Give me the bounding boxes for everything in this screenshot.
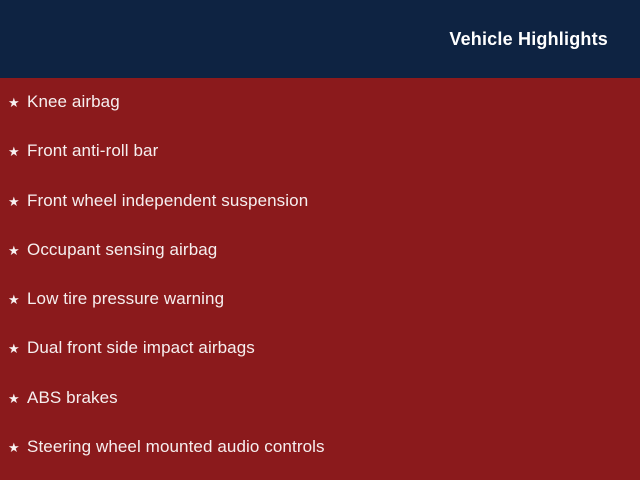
star-icon: ★ bbox=[8, 342, 27, 355]
list-item-label: Dual front side impact airbags bbox=[27, 339, 255, 356]
list-item: ★ Dual front side impact airbags bbox=[8, 339, 640, 388]
header-band: Vehicle Highlights bbox=[0, 0, 640, 78]
list-item: ★ ABS brakes bbox=[8, 389, 640, 438]
highlight-list: ★ Knee airbag ★ Front anti-roll bar ★ Fr… bbox=[8, 93, 640, 480]
list-item-label: Knee airbag bbox=[27, 93, 120, 110]
list-item-label: ABS brakes bbox=[27, 389, 118, 406]
star-icon: ★ bbox=[8, 195, 27, 208]
list-item-label: Front anti-roll bar bbox=[27, 142, 158, 159]
star-icon: ★ bbox=[8, 441, 27, 454]
list-item: ★ Front wheel independent suspension bbox=[8, 192, 640, 241]
star-icon: ★ bbox=[8, 145, 27, 158]
page-title: Vehicle Highlights bbox=[449, 30, 608, 48]
star-icon: ★ bbox=[8, 244, 27, 257]
list-item: ★ Steering wheel mounted audio controls bbox=[8, 438, 640, 480]
star-icon: ★ bbox=[8, 96, 27, 109]
list-item: ★ Knee airbag bbox=[8, 93, 640, 142]
slide-root: Vehicle Highlights ★ Knee airbag ★ Front… bbox=[0, 0, 640, 480]
list-item-label: Steering wheel mounted audio controls bbox=[27, 438, 325, 455]
list-item: ★ Front anti-roll bar bbox=[8, 142, 640, 191]
highlights-panel: ★ Knee airbag ★ Front anti-roll bar ★ Fr… bbox=[0, 78, 640, 480]
star-icon: ★ bbox=[8, 392, 27, 405]
list-item-label: Front wheel independent suspension bbox=[27, 192, 308, 209]
list-item-label: Low tire pressure warning bbox=[27, 290, 224, 307]
list-item: ★ Occupant sensing airbag bbox=[8, 241, 640, 290]
star-icon: ★ bbox=[8, 293, 27, 306]
list-item-label: Occupant sensing airbag bbox=[27, 241, 217, 258]
list-item: ★ Low tire pressure warning bbox=[8, 290, 640, 339]
